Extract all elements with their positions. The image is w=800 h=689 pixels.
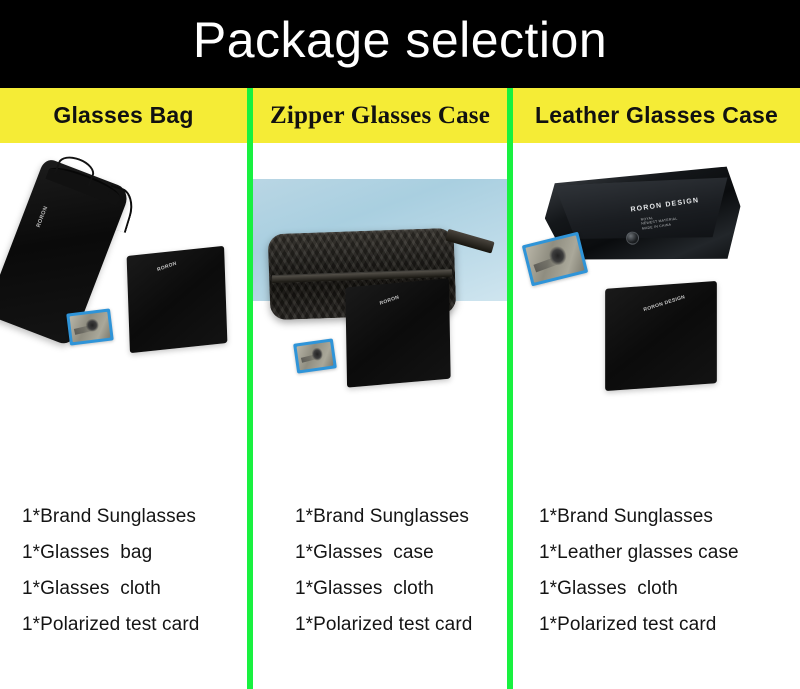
cloth-brand-text: RORON — [156, 261, 177, 274]
cloth-brand-text: RORON DESIGN — [643, 294, 686, 313]
title-banner: Package selection — [0, 0, 800, 88]
test-card-face — [525, 235, 584, 283]
spec-line: 1*Glasses bag — [22, 535, 247, 571]
cloth-brand-text: RORON — [379, 294, 400, 306]
page-title: Package selection — [0, 6, 800, 74]
spec-line: 1*Brand Sunglasses — [539, 499, 800, 535]
column-divider-1 — [247, 88, 253, 689]
spec-line: 1*Glasses cloth — [22, 571, 247, 607]
column-body-zipper-glasses-case: RORON 1*Brand Sunglasses 1*Glasses case … — [253, 143, 507, 689]
column-body-leather-glasses-case: RORON DESIGN ROYALNEWEST MATERIALMADE IN… — [513, 143, 800, 689]
spec-line: 1*Glasses cloth — [295, 571, 507, 607]
column-zipper-glasses-case[interactable]: Zipper Glasses Case RORON — [253, 88, 507, 689]
spec-line: 1*Glasses cloth — [539, 571, 800, 607]
spec-line: 1*Polarized test card — [295, 607, 507, 643]
cleaning-cloth-icon: RORON — [127, 246, 228, 353]
spec-list-glasses-bag: 1*Brand Sunglasses 1*Glasses bag 1*Glass… — [0, 499, 247, 643]
test-card-face — [70, 312, 111, 342]
spec-line: 1*Brand Sunglasses — [295, 499, 507, 535]
product-photo-glasses-bag: RORON RORON — [0, 143, 247, 488]
column-divider-2 — [507, 88, 513, 689]
product-photo-leather-glasses-case: RORON DESIGN ROYALNEWEST MATERIALMADE IN… — [513, 143, 800, 488]
package-selection-page: Package selection Glasses Bag RORON — [0, 0, 800, 689]
glasses-pouch-icon: RORON — [0, 157, 131, 347]
spec-line: 1*Polarized test card — [22, 607, 247, 643]
product-photo-zipper-glasses-case: RORON — [253, 143, 507, 488]
photo-backdrop — [253, 179, 507, 301]
column-body-glasses-bag: RORON RORON 1*Brand Sunglasses 1*Glasses… — [0, 143, 247, 689]
spec-line: 1*Brand Sunglasses — [22, 499, 247, 535]
zipper-pull-tab-icon — [445, 229, 494, 254]
polarized-test-card-icon — [66, 308, 114, 345]
column-title-zipper-glasses-case: Zipper Glasses Case — [270, 102, 490, 130]
polarized-test-card-icon — [293, 338, 337, 373]
column-header-glasses-bag: Glasses Bag — [0, 88, 247, 143]
column-header-zipper-glasses-case: Zipper Glasses Case — [253, 88, 507, 143]
spec-list-leather-glasses-case: 1*Brand Sunglasses 1*Leather glasses cas… — [513, 499, 800, 643]
column-header-leather-glasses-case: Leather Glasses Case — [513, 88, 800, 143]
spec-line: 1*Polarized test card — [539, 607, 800, 643]
spec-list-zipper-glasses-case: 1*Brand Sunglasses 1*Glasses case 1*Glas… — [253, 499, 507, 643]
test-card-face — [296, 342, 333, 370]
polarized-test-card-icon — [522, 232, 588, 287]
cleaning-cloth-icon: RORON DESIGN — [605, 281, 717, 391]
cleaning-cloth-icon: RORON — [345, 278, 450, 387]
column-title-leather-glasses-case: Leather Glasses Case — [535, 102, 778, 129]
column-leather-glasses-case[interactable]: Leather Glasses Case RORON DESIGN ROYALN… — [513, 88, 800, 689]
spec-line: 1*Leather glasses case — [539, 535, 800, 571]
column-glasses-bag[interactable]: Glasses Bag RORON RORON — [0, 88, 247, 689]
spec-line: 1*Glasses case — [295, 535, 507, 571]
column-title-glasses-bag: Glasses Bag — [53, 102, 193, 129]
